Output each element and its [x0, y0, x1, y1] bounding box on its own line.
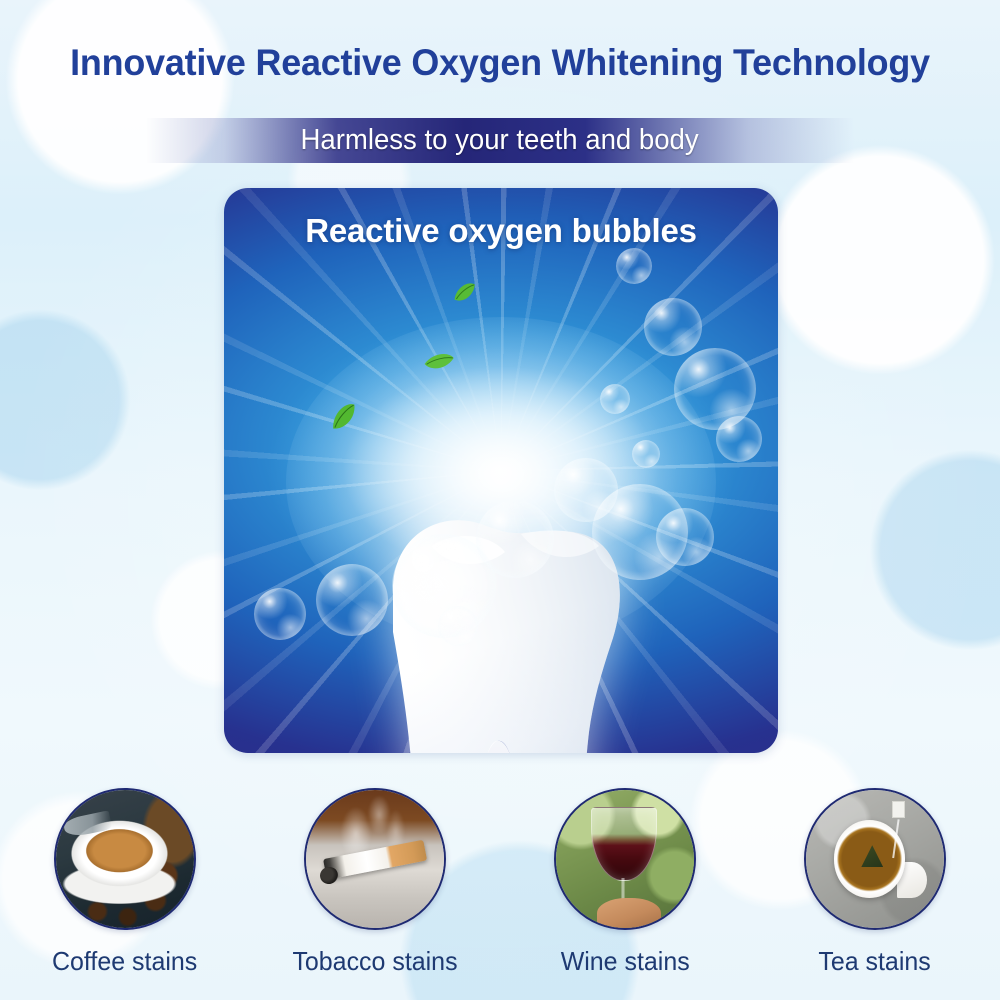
mint-leaf-icon — [325, 400, 364, 434]
stain-label: Tobacco stains — [292, 946, 457, 977]
mint-leaf-icon — [423, 350, 455, 374]
panel-title: Reactive oxygen bubbles — [224, 212, 778, 250]
stain-item-wine[interactable]: Wine stains — [525, 788, 725, 977]
cigarette-icon[interactable] — [304, 788, 446, 930]
bubble-icon — [254, 588, 306, 640]
bubble-icon — [632, 440, 660, 468]
stain-item-tobacco[interactable]: Tobacco stains — [275, 788, 475, 977]
bubble-icon — [716, 416, 762, 462]
tea-cup-icon[interactable] — [804, 788, 946, 930]
bubble-icon — [674, 348, 756, 430]
tooth-icon — [335, 494, 665, 753]
stain-types-row: Coffee stains Tobacco stains Wine st — [0, 788, 1000, 988]
infographic-page: Innovative Reactive Oxygen Whitening Tec… — [0, 0, 1000, 1000]
coffee-cup-icon[interactable] — [54, 788, 196, 930]
bubble-icon — [644, 298, 702, 356]
reactive-oxygen-panel: Reactive oxygen bubbles — [224, 188, 778, 753]
bubble-icon — [616, 248, 652, 284]
stain-label: Coffee stains — [52, 946, 197, 977]
stain-item-coffee[interactable]: Coffee stains — [25, 788, 225, 977]
stain-label: Wine stains — [560, 946, 689, 977]
page-title: Innovative Reactive Oxygen Whitening Tec… — [15, 42, 985, 84]
bubble-icon — [600, 384, 630, 414]
subtitle-text: Harmless to your teeth and body — [301, 124, 699, 157]
mint-leaf-icon — [450, 280, 480, 305]
stain-label: Tea stains — [819, 946, 931, 977]
stain-item-tea[interactable]: Tea stains — [775, 788, 975, 977]
subtitle-banner: Harmless to your teeth and body — [146, 118, 854, 163]
wine-glass-icon[interactable] — [554, 788, 696, 930]
